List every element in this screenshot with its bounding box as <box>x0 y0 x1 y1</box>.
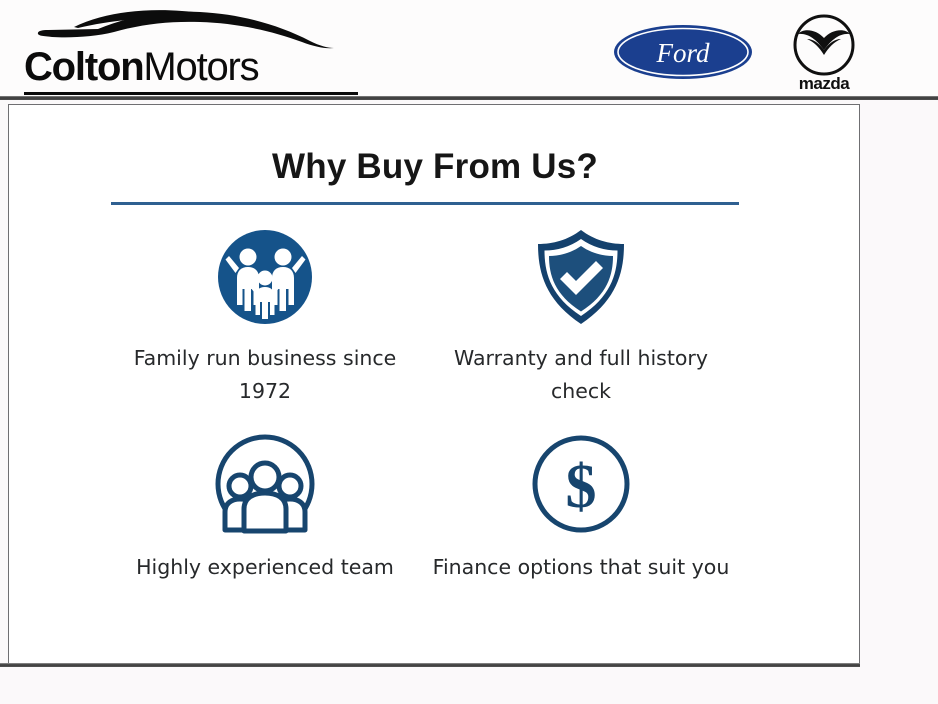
svg-text:$: $ <box>566 453 597 521</box>
feature-label: Finance options that suit you <box>421 551 741 584</box>
feature-grid: Family run business since 1972 Warranty … <box>9 227 861 647</box>
header-divider <box>0 96 938 100</box>
dealer-logo-underline <box>24 92 358 95</box>
dealer-logo[interactable]: ColtonMotors <box>24 8 354 92</box>
feature-label: Highly experienced team <box>105 551 425 584</box>
dealer-wordmark-light: Motors <box>143 45 258 89</box>
why-buy-panel: Why Buy From Us? Family r <box>8 104 860 664</box>
dollar-circle-icon: $ <box>529 432 633 536</box>
dealer-wordmark: ColtonMotors <box>24 44 354 90</box>
shield-check-icon <box>531 227 631 327</box>
feature-label: Warranty and full history check <box>421 342 741 408</box>
page-header: ColtonMotors Ford mazda <box>0 0 938 98</box>
svg-text:Ford: Ford <box>656 38 710 68</box>
svg-text:mazda: mazda <box>799 74 850 93</box>
team-group-icon <box>213 432 317 536</box>
mazda-logo[interactable]: mazda <box>783 14 865 94</box>
panel-bottom-divider <box>0 663 860 667</box>
feature-item-finance: $ Finance options that suit you <box>421 432 741 584</box>
family-icon <box>215 227 315 327</box>
feature-label: Family run business since 1972 <box>105 342 425 408</box>
page-title: Why Buy From Us? <box>9 147 861 187</box>
title-divider <box>111 202 739 205</box>
ford-oval-logo[interactable]: Ford <box>613 24 753 80</box>
feature-item-team: Highly experienced team <box>105 432 425 584</box>
dealer-wordmark-bold: Colton <box>24 45 143 89</box>
feature-item-warranty: Warranty and full history check <box>421 227 741 408</box>
feature-item-family: Family run business since 1972 <box>105 227 425 408</box>
